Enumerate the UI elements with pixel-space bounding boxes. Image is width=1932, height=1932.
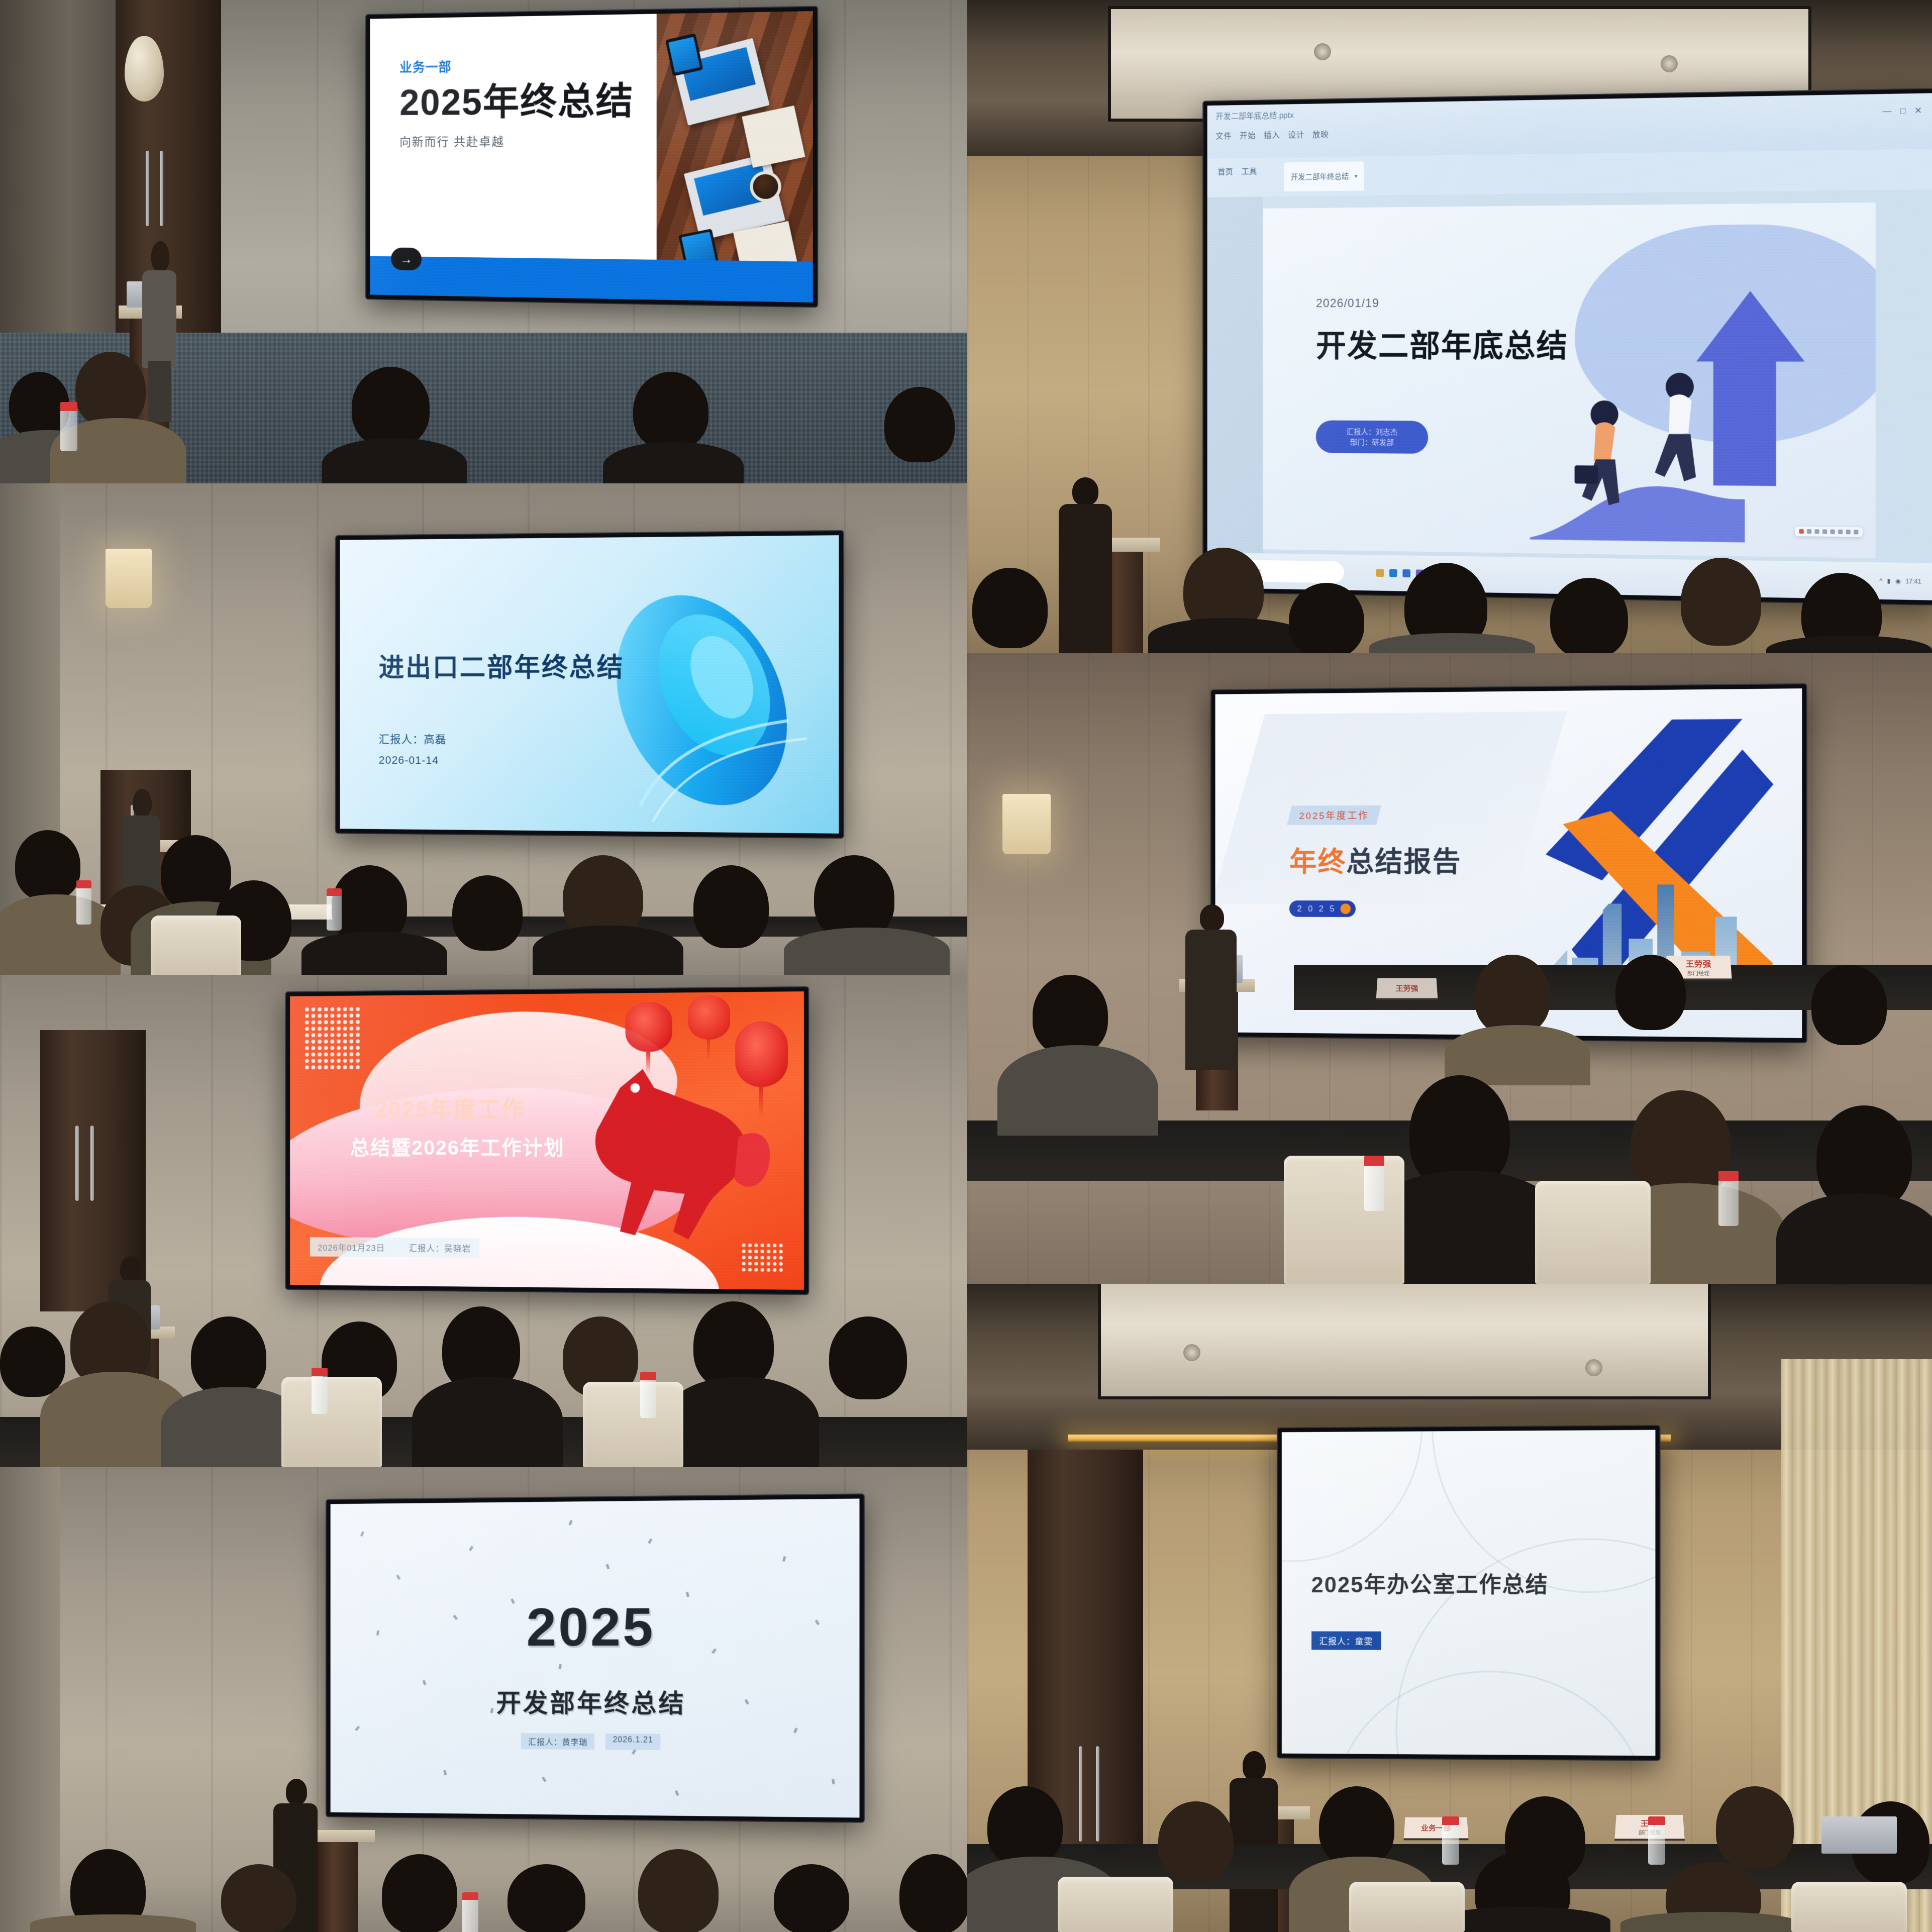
- audience-shoulder: [997, 1045, 1158, 1136]
- chevron-right-icon[interactable]: [1854, 530, 1858, 534]
- slide-date: 2026.1.21: [605, 1734, 660, 1750]
- audience-head: [352, 367, 430, 447]
- audience-head: [1681, 558, 1761, 646]
- water-bottle: [1442, 1816, 1459, 1865]
- chevron-up-icon[interactable]: ^: [1879, 577, 1882, 584]
- audience-head: [633, 372, 708, 450]
- toolbar-icon-1[interactable]: [1799, 529, 1804, 534]
- tv-screen: 业务一部 2025年终总结 向新而行 共赴卓越 →: [370, 11, 812, 302]
- minimize-icon[interactable]: —: [1883, 106, 1895, 116]
- audience-head: [1811, 965, 1887, 1045]
- presenter: [1229, 1751, 1279, 1932]
- tv-screen: 2025年度工作 总结暨2026年工作计划 2026年01月23日 汇报人：吴晓…: [290, 991, 804, 1290]
- lantern-icon: [688, 995, 730, 1040]
- slide-date: 2026年01月23日: [318, 1241, 385, 1254]
- audience-shoulder: [663, 1377, 819, 1467]
- slide-import-export-dept-two: 进出口二部年终总结 汇报人：高磊 2026-01-14: [340, 535, 839, 834]
- audience-head: [829, 1316, 907, 1399]
- audience-chair: [281, 1377, 382, 1467]
- menu-item-insert[interactable]: 插入: [1264, 131, 1280, 140]
- audience-shoulder: [603, 442, 744, 483]
- slide-department-label: 业务一部: [399, 54, 657, 76]
- door-handle: [146, 151, 149, 226]
- tv-screen: 进出口二部年终总结 汇报人：高磊 2026-01-14: [340, 535, 839, 834]
- door-handle: [75, 1126, 79, 1201]
- audience-shoulder: [322, 438, 467, 483]
- audience-shoulder: [1776, 1193, 1932, 1284]
- people-illustration: [1502, 359, 1774, 543]
- slide-reporter: 汇报人：高磊: [379, 731, 447, 747]
- toolbar-icon-3[interactable]: [1815, 529, 1819, 534]
- slide-title-rest: 总结报告: [1346, 846, 1461, 877]
- window-titlebar: 开发二部年底总结.pptx 文件 开始 插入 设计 放映 — □ ✕: [1207, 93, 1932, 159]
- network-icon[interactable]: ▮: [1887, 577, 1891, 584]
- audience-head: [221, 1864, 296, 1932]
- audience-head: [507, 1864, 585, 1932]
- ceiling-downlight: [1661, 55, 1678, 72]
- slide-subtitle: 向新而行 共赴卓越: [399, 132, 657, 150]
- panel-bottom-right: 2025年办公室工作总结 汇报人：童雯 业务一部 王 宁 部门经理: [967, 1284, 1932, 1932]
- audience-head: [75, 352, 146, 427]
- audience-head: [1289, 583, 1364, 653]
- nameplate-name: 王劳强: [1685, 957, 1711, 969]
- close-icon[interactable]: ✕: [1914, 106, 1925, 116]
- water-bottle: [640, 1372, 656, 1418]
- audience-head: [1615, 955, 1686, 1030]
- audience-head: [1158, 1801, 1234, 1882]
- audience-head: [15, 830, 80, 900]
- audience-head: [693, 1301, 774, 1389]
- menu-item-home[interactable]: 开始: [1240, 132, 1256, 140]
- audience-head: [1550, 578, 1628, 653]
- audience-head: [1475, 955, 1550, 1035]
- slide-date: 2026-01-14: [379, 754, 439, 767]
- slide-title: 2025年终总结: [399, 81, 657, 122]
- slide-photo: [657, 11, 813, 302]
- audience-head: [899, 1854, 967, 1932]
- nameplate-role: 部门经理: [1687, 969, 1710, 977]
- panel-top-left: 业务一部 2025年终总结 向新而行 共赴卓越 →: [0, 0, 967, 483]
- audience-shoulder: [1620, 1912, 1801, 1932]
- audience-chair: [583, 1382, 683, 1467]
- blue-swirl-graphic: [536, 577, 839, 834]
- audience-head: [972, 568, 1048, 648]
- ceiling-downlight: [1183, 1344, 1200, 1361]
- wall-tv-frame: 业务一部 2025年终总结 向新而行 共赴卓越 →: [366, 7, 817, 307]
- audience-shoulder: [533, 926, 683, 975]
- audience-chair: [1284, 1156, 1404, 1284]
- menu-bar[interactable]: 文件 开始 插入 设计 放映: [1215, 128, 1329, 141]
- audience-chair: [1058, 1877, 1173, 1932]
- panel-mid-left: 进出口二部年终总结 汇报人：高磊 2026-01-14: [0, 483, 967, 975]
- lantern-icon: [625, 1001, 672, 1052]
- projection-screen: 开发二部年底总结.pptx 文件 开始 插入 设计 放映 — □ ✕: [1207, 93, 1932, 600]
- audience-head: [693, 865, 769, 948]
- pill-line-2: 部门：研发部: [1350, 437, 1394, 447]
- panel-bottom-left: 2025 开发部年终总结 汇报人：黄李瑞 2026.1.21: [0, 1467, 967, 1932]
- presenter: [1183, 904, 1239, 1070]
- window-body: 2026/01/19 开发二部年底总结 汇报人：刘志杰 部门：研发部: [1207, 189, 1932, 600]
- slide-accent-band: [370, 256, 812, 302]
- slide-title: 2025年办公室工作总结: [1311, 1567, 1549, 1599]
- slide-business-dept-one: 业务一部 2025年终总结 向新而行 共赴卓越 →: [370, 11, 812, 302]
- panel-top-right: 开发二部年底总结.pptx 文件 开始 插入 设计 放映 — □ ✕: [967, 0, 1932, 653]
- dot-pattern: [305, 1007, 360, 1070]
- slide-kicker: 2025年度工作: [1287, 805, 1381, 825]
- audience-laptop: [1821, 1816, 1897, 1854]
- slide-reporter-badge: 汇报人：童雯: [1311, 1632, 1381, 1650]
- tv-screen: 2025 开发部年终总结 汇报人：黄李瑞 2026.1.21: [331, 1499, 860, 1818]
- water-bottle: [1718, 1171, 1739, 1226]
- year-badge-label: 2 0 2 5: [1297, 904, 1337, 914]
- taskbar-system-tray[interactable]: ^ ▮ ◉ 17:41: [1879, 577, 1921, 585]
- slide-date: 2026/01/19: [1316, 296, 1379, 311]
- wall-tv-frame: 2025年办公室工作总结 汇报人：童雯: [1278, 1426, 1660, 1760]
- slide-annual-plan: 2025年度工作 总结暨2026年工作计划 2026年01月23日 汇报人：吴晓…: [290, 991, 804, 1290]
- slide-office-summary: 2025年办公室工作总结 汇报人：童雯: [1282, 1430, 1656, 1756]
- year-badge: 2 0 2 5: [1289, 900, 1356, 917]
- app-icon-mail[interactable]: [1403, 569, 1411, 577]
- door-handle: [160, 151, 163, 226]
- audience-chair: [151, 916, 241, 975]
- nameplate-name: 王劳强: [1395, 983, 1418, 993]
- slide-toolbar[interactable]: [1795, 526, 1863, 537]
- water-bottle: [76, 880, 91, 925]
- photo-collage: 业务一部 2025年终总结 向新而行 共赴卓越 →: [0, 0, 1932, 1932]
- podium: [317, 1839, 358, 1932]
- audience-head: [1319, 1786, 1394, 1867]
- audience-head: [382, 1854, 457, 1932]
- slide-dev-dept-summary: 2025 开发部年终总结 汇报人：黄李瑞 2026.1.21: [331, 1499, 860, 1818]
- panel-low-left: 2025年度工作 总结暨2026年工作计划 2026年01月23日 汇报人：吴晓…: [0, 975, 967, 1467]
- slide-footer: 2026年01月23日 汇报人：吴晓岩: [310, 1237, 479, 1258]
- panel-mid-right: 2025年度工作 年终总结报告 2 0 2 5: [967, 653, 1932, 1284]
- toolbar-item-home[interactable]: 首页: [1217, 168, 1233, 177]
- wall-sconce: [1002, 794, 1051, 854]
- door-handle: [1079, 1746, 1082, 1842]
- tv-screen: 2025年办公室工作总结 汇报人：童雯: [1282, 1430, 1656, 1756]
- audience-head: [161, 835, 231, 910]
- menu-item-design[interactable]: 设计: [1288, 131, 1305, 140]
- toolbar-quick-access[interactable]: 首页 工具: [1217, 165, 1257, 177]
- wall-column-left: [0, 1467, 60, 1932]
- audience-head: [774, 1864, 849, 1932]
- audience-head: [987, 1786, 1063, 1867]
- arrow-icon: →: [391, 248, 422, 271]
- slide-title-highlight: 年终: [1289, 846, 1346, 877]
- audience-head: [0, 1327, 65, 1397]
- app-icon-edge[interactable]: [1389, 569, 1397, 577]
- slide-reporter: 汇报人：吴晓岩: [409, 1241, 471, 1254]
- chevron-down-icon[interactable]: ▾: [1355, 173, 1357, 179]
- toolbar-icon-2[interactable]: [1807, 529, 1811, 534]
- audience-chair: [1791, 1882, 1907, 1932]
- slide-reporter: 汇报人：黄李瑞: [521, 1733, 594, 1750]
- slide-kicker-label: 2025年度工作: [1299, 808, 1369, 822]
- water-bottle: [312, 1368, 328, 1414]
- document-tab[interactable]: 开发二部年终总结 ▾: [1284, 161, 1364, 192]
- door-handle: [90, 1126, 94, 1201]
- water-bottle: [1648, 1816, 1665, 1865]
- presenter: [1058, 477, 1113, 653]
- file-path-label: 开发二部年底总结.pptx: [1215, 109, 1293, 122]
- wall-tv-frame: 进出口二部年终总结 汇报人：高磊 2026-01-14: [336, 531, 843, 838]
- water-bottle: [1364, 1156, 1384, 1211]
- toolbar-item-tools[interactable]: 工具: [1242, 168, 1257, 176]
- door-handle: [1096, 1746, 1099, 1842]
- audience-head: [1033, 975, 1108, 1055]
- maximize-icon[interactable]: □: [1900, 106, 1909, 116]
- slide-year: 2025: [331, 1594, 860, 1658]
- audience-shoulder: [301, 932, 447, 975]
- volume-icon[interactable]: ◉: [1895, 578, 1901, 585]
- ceiling-downlight: [1585, 1359, 1602, 1376]
- app-icon-explorer[interactable]: [1376, 569, 1384, 577]
- pill-line-1: 汇报人：刘志杰: [1346, 426, 1397, 437]
- slide-title-line-2: 总结暨2026年工作计划: [350, 1132, 565, 1161]
- document-tab-label: 开发二部年终总结: [1291, 171, 1349, 182]
- clock-label[interactable]: 17:41: [1905, 578, 1921, 585]
- ceiling-recess: [1098, 1284, 1711, 1399]
- slide-title: 年终总结报告: [1289, 839, 1461, 880]
- wall-tv-frame: 2025 开发部年终总结 汇报人：黄李瑞 2026.1.21: [327, 1494, 864, 1821]
- water-bottle: [462, 1892, 478, 1932]
- audience-head: [638, 1849, 719, 1932]
- audience-shoulder: [30, 1914, 196, 1932]
- wall-tv-frame: 2025年度工作 总结暨2026年工作计划 2026年01月23日 汇报人：吴晓…: [286, 987, 808, 1294]
- audience-shoulder: [784, 928, 950, 975]
- toolbar-icon-6[interactable]: [1838, 530, 1843, 534]
- toolbar-icon-4[interactable]: [1822, 529, 1827, 534]
- menu-item-slideshow[interactable]: 放映: [1312, 131, 1329, 139]
- slide-canvas: 2026/01/19 开发二部年底总结 汇报人：刘志杰 部门：研发部: [1263, 202, 1876, 559]
- slide-title: 进出口二部年终总结: [379, 646, 625, 684]
- presenter-pill: 汇报人：刘志杰 部门：研发部: [1316, 420, 1428, 454]
- audience-shoulder: [412, 1377, 563, 1467]
- window-controls[interactable]: — □ ✕: [1883, 106, 1925, 117]
- badge-dot-icon: [1341, 903, 1351, 914]
- wps-presentation-window: 开发二部年底总结.pptx 文件 开始 插入 设计 放映 — □ ✕: [1207, 93, 1932, 600]
- slide-meta: 汇报人：黄李瑞 2026.1.21: [331, 1732, 860, 1751]
- audience-shoulder: [1148, 618, 1309, 653]
- water-bottle: [327, 888, 342, 931]
- audience-head: [884, 387, 955, 462]
- water-bottle: [60, 402, 77, 451]
- audience-chair: [1349, 1882, 1465, 1932]
- nameplate: 王劳强: [1376, 978, 1438, 1000]
- menu-item-file[interactable]: 文件: [1215, 132, 1232, 141]
- toolbar-icon-5[interactable]: [1831, 529, 1835, 534]
- audience-head: [1716, 1786, 1794, 1869]
- toolbar-icon-7[interactable]: [1846, 530, 1851, 534]
- audience-head: [452, 875, 523, 951]
- audience-chair: [1535, 1181, 1651, 1284]
- slide-thumbnail-pane[interactable]: [1207, 196, 1263, 588]
- ceiling-downlight: [1314, 43, 1331, 60]
- slide-title-line-1: 2025年度工作: [375, 1091, 525, 1124]
- horse-graphic: [543, 1057, 783, 1248]
- slide-title: 开发部年终总结: [331, 1683, 860, 1720]
- projection-screen-frame: 开发二部年底总结.pptx 文件 开始 插入 设计 放映 — □ ✕: [1203, 89, 1932, 604]
- audience-head: [191, 1316, 266, 1397]
- decorative-vase: [125, 36, 164, 101]
- wall-sconce: [106, 549, 152, 608]
